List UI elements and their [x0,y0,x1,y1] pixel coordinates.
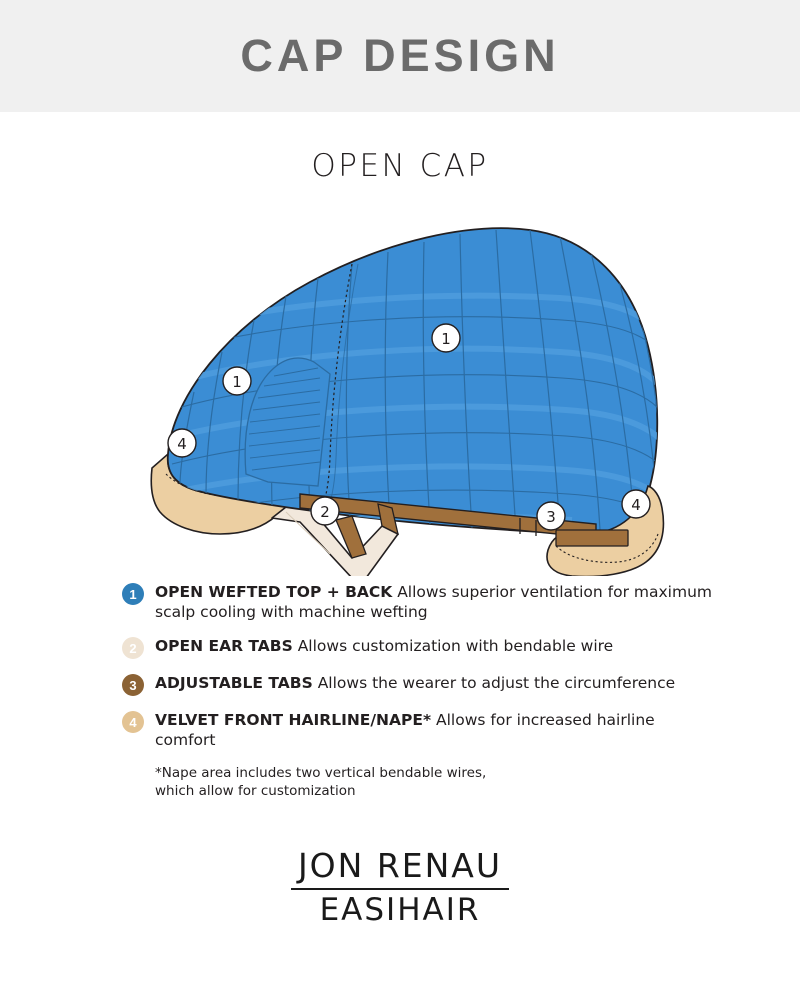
legend-desc-3: Allows the wearer to adjust the circumfe… [313,674,675,692]
legend-desc-2: Allows customization with bendable wire [293,637,613,655]
legend-text-4: VELVET FRONT HAIRLINE/NAPE* Allows for i… [155,710,715,750]
svg-text:1: 1 [232,373,242,391]
callout-4-right: 4 [622,490,650,518]
subtitle-container: OPEN CAP [0,148,800,184]
legend-item-1: 1 OPEN WEFTED TOP + BACK Allows superior… [122,582,800,622]
cap-diagram-container: 1 1 4 2 3 4 [0,186,800,576]
header-band: CAP DESIGN [0,0,800,112]
callout-3-adjustable: 3 [537,502,565,530]
callout-4-left: 4 [168,429,196,457]
legend-label-3: ADJUSTABLE TABS [155,674,313,692]
legend-text-3: ADJUSTABLE TABS Allows the wearer to adj… [155,673,675,693]
svg-text:4: 4 [631,496,641,514]
legend-text-2: OPEN EAR TABS Allows customization with … [155,636,613,656]
brand-divider [291,888,509,890]
legend-label-4: VELVET FRONT HAIRLINE/NAPE* [155,711,431,729]
legend-label-2: OPEN EAR TABS [155,637,293,655]
svg-text:4: 4 [177,435,187,453]
callout-2-ear-tab: 2 [311,497,339,525]
legend-item-4: 4 VELVET FRONT HAIRLINE/NAPE* Allows for… [122,710,800,750]
svg-text:1: 1 [441,330,451,348]
callout-1-top: 1 [432,324,460,352]
legend-badge-2: 2 [122,637,144,659]
brand-logo: JON RENAU EASIHAIR [0,846,800,928]
legend-footnote: *Nape area includes two vertical bendabl… [155,764,800,800]
legend-list: 1 OPEN WEFTED TOP + BACK Allows superior… [0,582,800,800]
legend-item-3: 3 ADJUSTABLE TABS Allows the wearer to a… [122,673,800,696]
legend-badge-1: 1 [122,583,144,605]
open-cap-illustration: 1 1 4 2 3 4 [0,186,800,576]
legend-text-1: OPEN WEFTED TOP + BACK Allows superior v… [155,582,715,622]
svg-text:3: 3 [546,508,556,526]
brand-name-secondary: EASIHAIR [0,892,800,928]
page-title: CAP DESIGN [240,30,559,82]
svg-text:2: 2 [320,503,330,521]
legend-label-1: OPEN WEFTED TOP + BACK [155,583,392,601]
brand-name-primary: JON RENAU [0,846,800,885]
callout-1-front: 1 [223,367,251,395]
legend-badge-3: 3 [122,674,144,696]
legend-badge-4: 4 [122,711,144,733]
section-subtitle: OPEN CAP [311,148,488,184]
legend-item-2: 2 OPEN EAR TABS Allows customization wit… [122,636,800,659]
